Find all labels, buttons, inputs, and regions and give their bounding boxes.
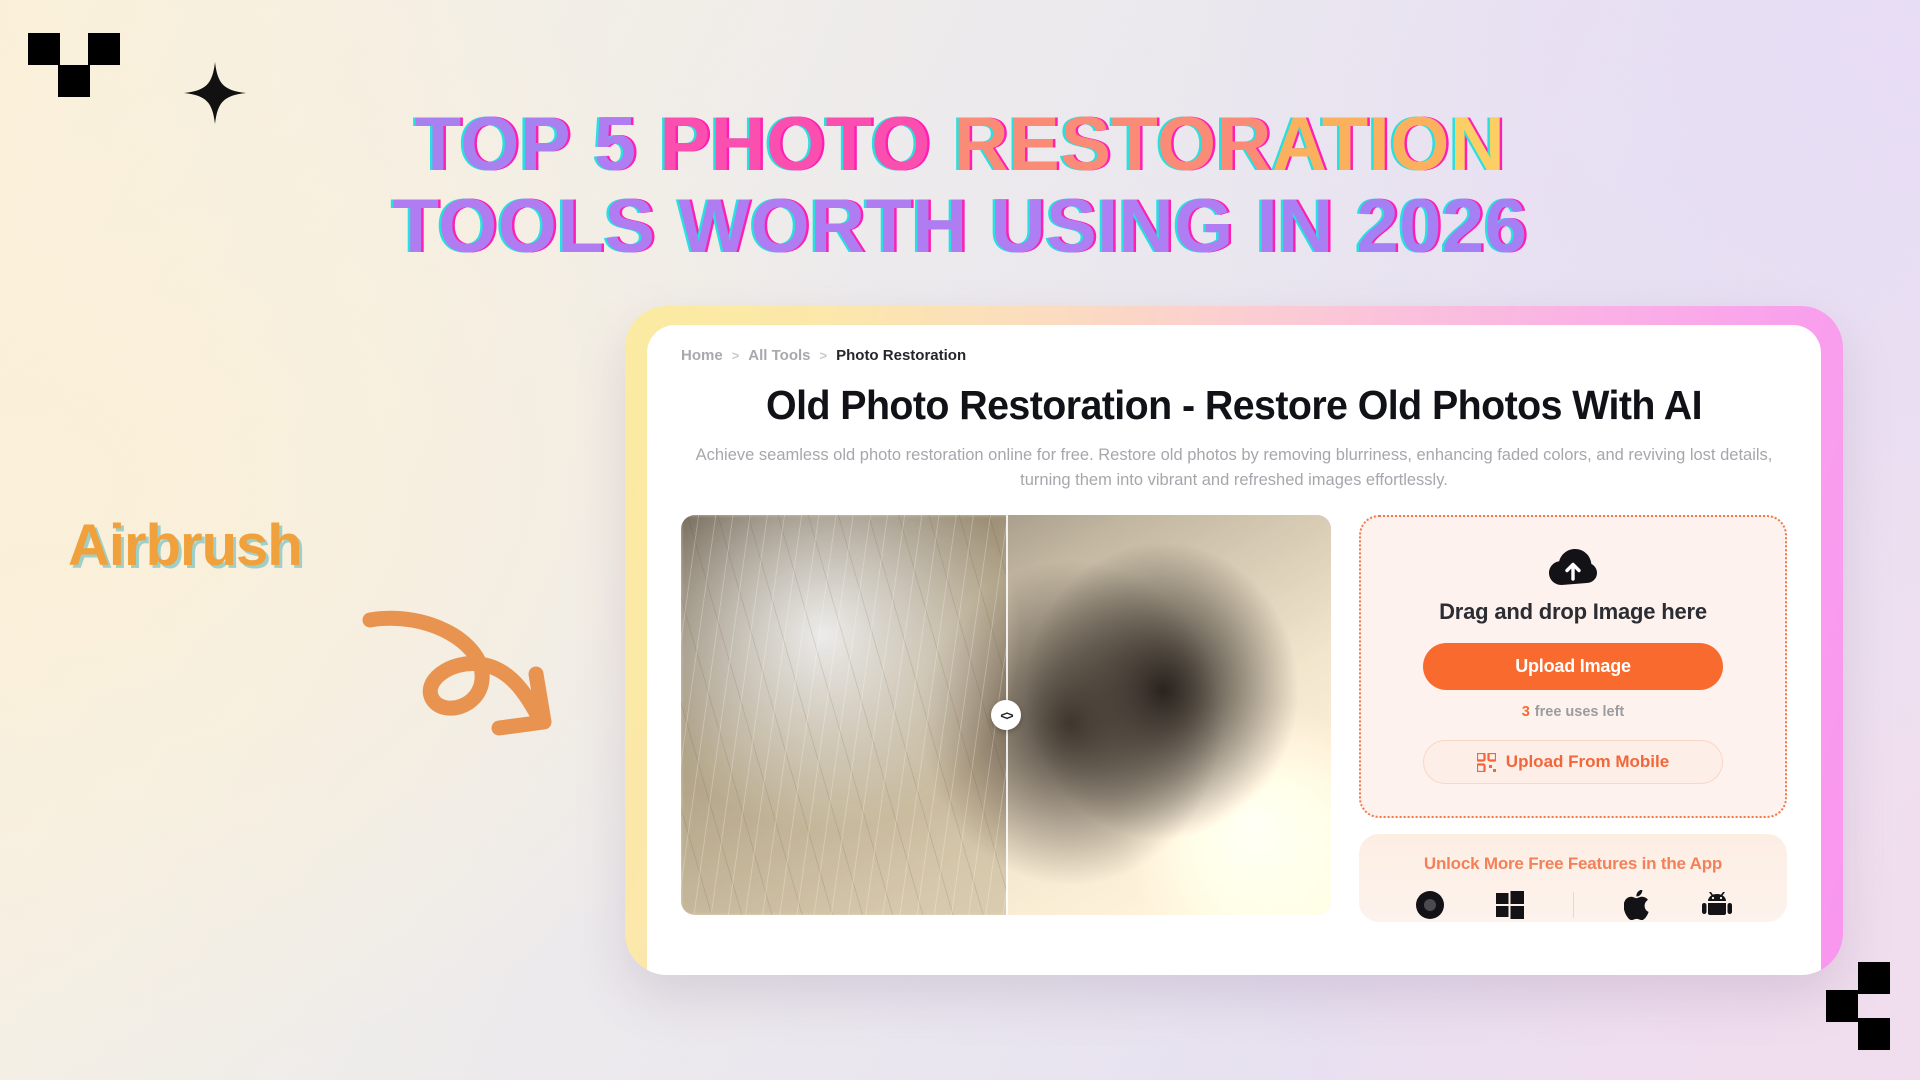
breadcrumb-item-all-tools[interactable]: All Tools	[748, 347, 810, 364]
before-after-comparison[interactable]: <>	[681, 515, 1331, 915]
before-image	[681, 515, 1006, 915]
headline-line-1: TOP5PHOTORESTORATION	[0, 108, 1920, 182]
platform-icon-row	[1359, 888, 1787, 922]
breadcrumb-separator: >	[820, 348, 828, 363]
portrait-photo	[1006, 515, 1331, 915]
scratch-overlay	[681, 515, 1006, 915]
curly-arrow-icon	[358, 588, 573, 758]
browser-card-frame: Home > All Tools > Photo Restoration Old…	[625, 306, 1843, 975]
android-icon[interactable]	[1700, 888, 1734, 922]
tool-heading: Old Photo Restoration - Restore Old Phot…	[703, 382, 1765, 429]
camera-app-icon[interactable]	[1413, 888, 1447, 922]
app-promo-banner[interactable]: Unlock More Free Features in the App	[1359, 834, 1787, 922]
checkerboard-icon	[28, 33, 120, 97]
qr-code-icon	[1477, 753, 1496, 772]
upload-column: Drag and drop Image here Upload Image 3f…	[1359, 515, 1787, 922]
upload-from-mobile-label: Upload From Mobile	[1506, 752, 1669, 772]
brand-label: Airbrush	[68, 512, 302, 579]
breadcrumb: Home > All Tools > Photo Restoration	[681, 347, 1787, 364]
cloud-upload-icon	[1549, 549, 1597, 587]
free-uses-status: 3free uses left	[1522, 704, 1625, 720]
apple-icon[interactable]	[1620, 888, 1654, 922]
upload-from-mobile-button[interactable]: Upload From Mobile	[1423, 740, 1723, 784]
headline-line-2: TOOLSWORTHUSINGIN2026	[0, 190, 1920, 264]
compare-slider-handle-icon[interactable]: <>	[991, 700, 1021, 730]
breadcrumb-item-home[interactable]: Home	[681, 347, 723, 364]
app-promo-title: Unlock More Free Features in the App	[1359, 854, 1787, 874]
icon-divider	[1573, 892, 1574, 918]
windows-icon[interactable]	[1493, 888, 1527, 922]
tool-page: Home > All Tools > Photo Restoration Old…	[647, 325, 1821, 975]
dropzone[interactable]: Drag and drop Image here Upload Image 3f…	[1359, 515, 1787, 818]
breadcrumb-item-current: Photo Restoration	[836, 347, 966, 364]
free-uses-label: free uses left	[1535, 704, 1624, 720]
page-title: TOP5PHOTORESTORATION TOOLSWORTHUSINGIN20…	[0, 108, 1920, 265]
checkerboard-icon	[1810, 962, 1890, 1042]
free-uses-count: 3	[1522, 704, 1530, 720]
tool-body: <> Drag and drop Image here Upload Image…	[681, 515, 1787, 922]
tool-subheading: Achieve seamless old photo restoration o…	[681, 443, 1787, 493]
after-image	[1006, 515, 1331, 915]
breadcrumb-separator: >	[732, 348, 740, 363]
dropzone-title: Drag and drop Image here	[1439, 599, 1707, 625]
upload-image-button[interactable]: Upload Image	[1423, 643, 1723, 690]
